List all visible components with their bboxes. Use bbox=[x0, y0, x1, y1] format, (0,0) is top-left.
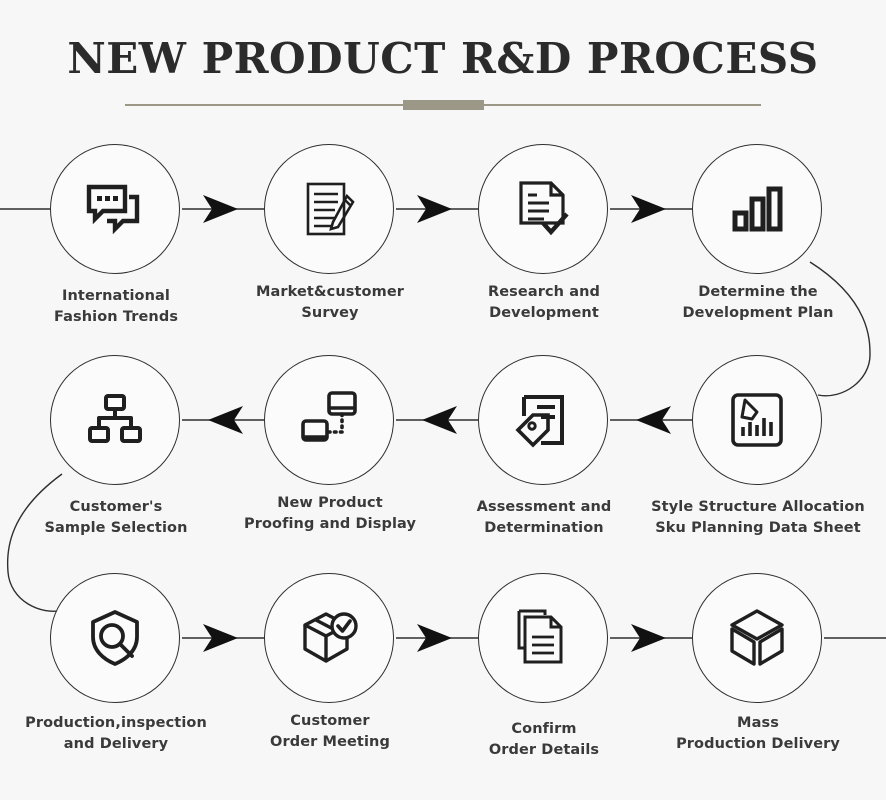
two-monitors-icon bbox=[297, 388, 361, 452]
step-node-1[interactable]: International Fashion Trends bbox=[50, 144, 182, 274]
step-label-8: Style Structure Allocation Sku Planning … bbox=[648, 497, 868, 538]
step-label-5: Customer's Sample Selection bbox=[6, 497, 226, 538]
process-diagram: NEW PRODUCT R&D PROCESS bbox=[0, 0, 886, 800]
step-circle-11[interactable] bbox=[478, 573, 608, 703]
page-title-wrap: NEW PRODUCT R&D PROCESS bbox=[0, 38, 886, 80]
arrow-right-icon bbox=[417, 624, 452, 652]
arrow-right-icon bbox=[631, 624, 666, 652]
step-node-10[interactable]: Customer Order Meeting bbox=[264, 573, 396, 703]
step-node-7[interactable]: Assessment and Determination bbox=[478, 355, 610, 485]
document-check-icon bbox=[511, 177, 575, 241]
chart-sheet-pencil-icon bbox=[725, 388, 789, 452]
cube-3d-icon bbox=[725, 606, 789, 670]
org-hierarchy-icon bbox=[83, 388, 147, 452]
step-node-2[interactable]: Market&customer Survey bbox=[264, 144, 396, 274]
step-circle-5[interactable] bbox=[50, 355, 180, 485]
step-label-2: Market&customer Survey bbox=[220, 282, 440, 323]
step-node-3[interactable]: Research and Development bbox=[478, 144, 610, 274]
step-circle-10[interactable] bbox=[264, 573, 394, 703]
stacked-documents-icon bbox=[511, 606, 575, 670]
step-circle-6[interactable] bbox=[264, 355, 394, 485]
step-circle-2[interactable] bbox=[264, 144, 394, 274]
step-circle-4[interactable] bbox=[692, 144, 822, 274]
arrow-right-icon bbox=[203, 624, 238, 652]
arrow-right-icon bbox=[203, 195, 238, 223]
arrow-left-icon bbox=[208, 406, 243, 434]
page-title: NEW PRODUCT R&D PROCESS bbox=[0, 38, 886, 80]
title-divider bbox=[125, 100, 761, 110]
arrow-right-icon bbox=[631, 195, 666, 223]
step-node-8[interactable]: Style Structure Allocation Sku Planning … bbox=[692, 355, 824, 485]
step-label-9: Production,inspection and Delivery bbox=[6, 713, 226, 754]
shield-search-icon bbox=[83, 606, 147, 670]
step-circle-8[interactable] bbox=[692, 355, 822, 485]
arrow-left-icon bbox=[422, 406, 457, 434]
step-label-4: Determine the Development Plan bbox=[648, 282, 868, 323]
step-node-12[interactable]: Mass Production Delivery bbox=[692, 573, 824, 703]
step-node-9[interactable]: Production,inspection and Delivery bbox=[50, 573, 182, 703]
step-node-6[interactable]: New Product Proofing and Display bbox=[264, 355, 396, 485]
step-label-10: Customer Order Meeting bbox=[220, 711, 440, 752]
step-node-5[interactable]: Customer's Sample Selection bbox=[50, 355, 182, 485]
step-node-11[interactable]: Confirm Order Details bbox=[478, 573, 610, 703]
step-label-6: New Product Proofing and Display bbox=[220, 493, 440, 534]
step-circle-9[interactable] bbox=[50, 573, 180, 703]
step-circle-3[interactable] bbox=[478, 144, 608, 274]
step-circle-7[interactable] bbox=[478, 355, 608, 485]
bar-chart-icon bbox=[725, 177, 789, 241]
step-circle-12[interactable] bbox=[692, 573, 822, 703]
step-label-3: Research and Development bbox=[434, 282, 654, 323]
arrow-left-icon bbox=[636, 406, 671, 434]
step-label-11: Confirm Order Details bbox=[434, 719, 654, 760]
step-label-7: Assessment and Determination bbox=[434, 497, 654, 538]
arrow-right-icon bbox=[417, 195, 452, 223]
document-tag-icon bbox=[511, 388, 575, 452]
chat-bubbles-icon bbox=[83, 177, 147, 241]
step-node-4[interactable]: Determine the Development Plan bbox=[692, 144, 824, 274]
step-label-1: International Fashion Trends bbox=[6, 286, 226, 327]
step-circle-1[interactable] bbox=[50, 144, 180, 274]
step-label-12: Mass Production Delivery bbox=[648, 713, 868, 754]
document-pencil-icon bbox=[297, 177, 361, 241]
box-check-icon bbox=[297, 606, 361, 670]
divider-accent-block bbox=[403, 100, 484, 110]
